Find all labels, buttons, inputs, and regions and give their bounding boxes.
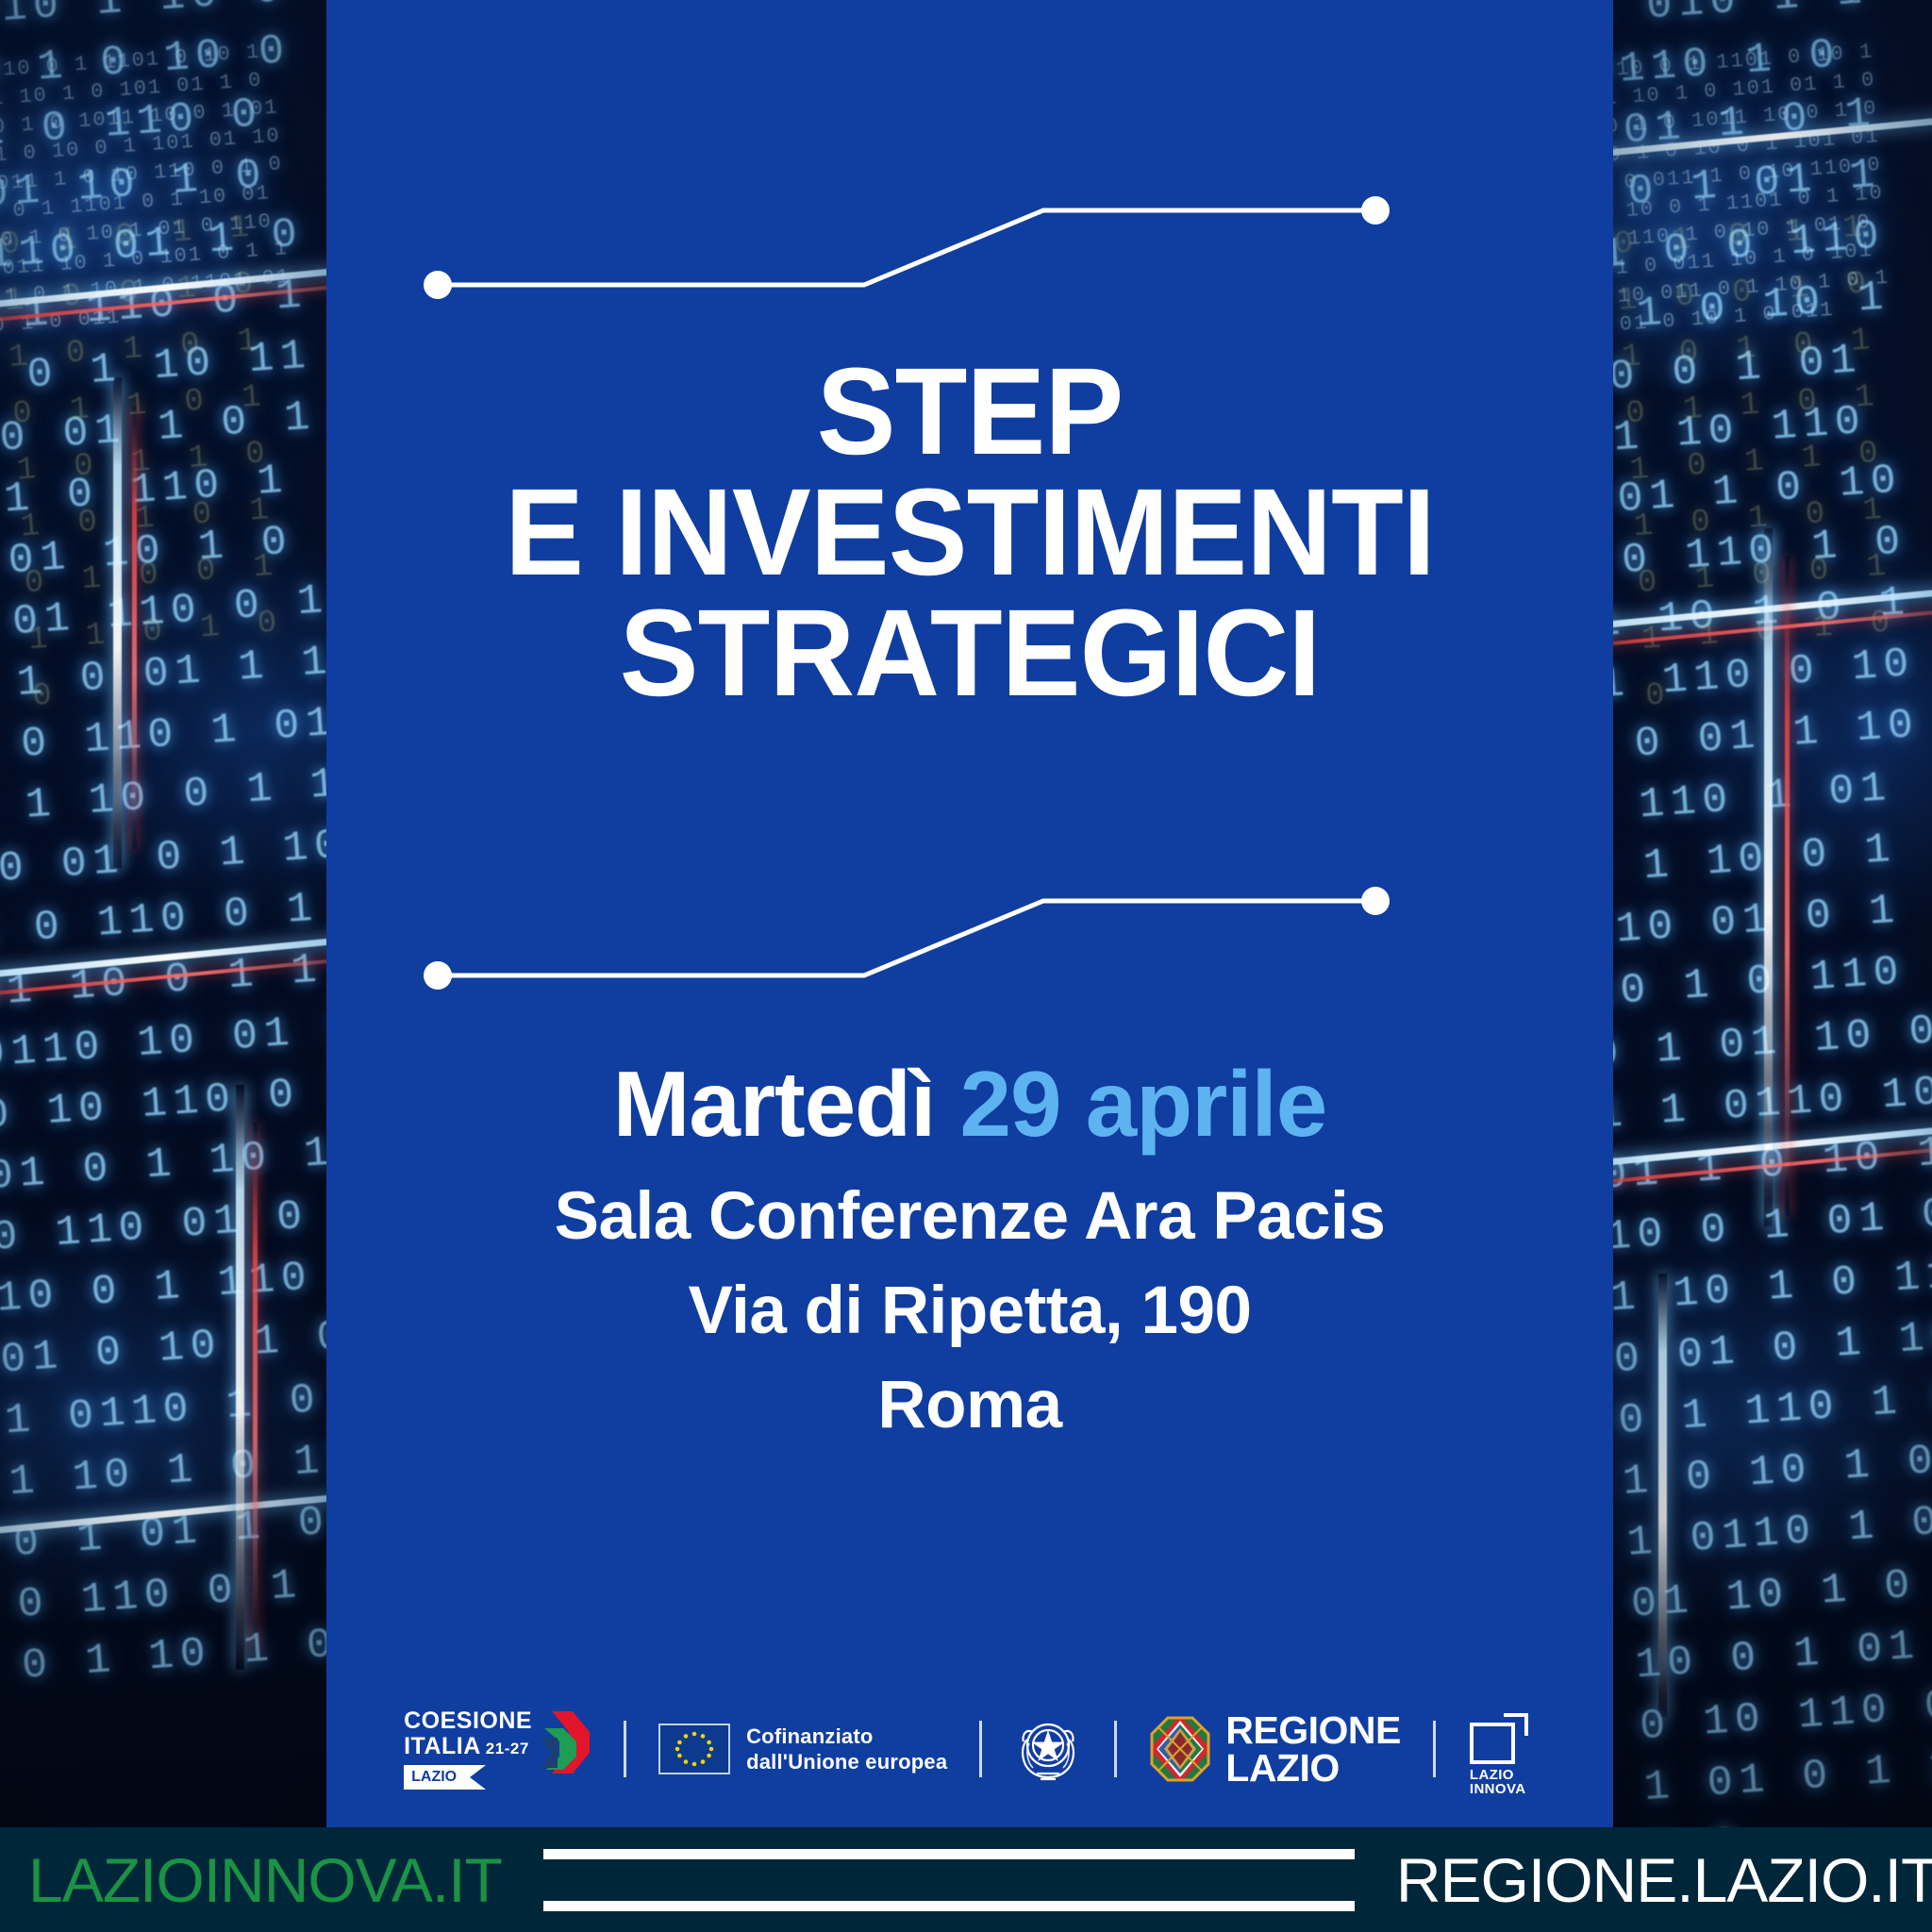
lazio-innova-logo-group: LAZIO INNOVA bbox=[1468, 1713, 1536, 1785]
title-line-2: E INVESTIMENTI bbox=[352, 472, 1587, 592]
poster-title: STEP E INVESTIMENTI STRATEGICI bbox=[352, 351, 1587, 713]
regione-lazio-octagon-icon bbox=[1149, 1715, 1211, 1783]
poster-canvas: 1011 0 1 0110 10 1 0 01 1 010 1 10 0110 … bbox=[0, 0, 1932, 1932]
footer-rule-top bbox=[543, 1849, 1355, 1859]
logo-separator-2 bbox=[979, 1721, 982, 1777]
background-vignette-left bbox=[0, 0, 326, 1827]
partner-logo-strip: COESIONE ITALIA 21-27 LAZIO bbox=[326, 1698, 1613, 1800]
lazio-innova-text-block: LAZIO INNOVA bbox=[1470, 1768, 1526, 1796]
coesione-region-banner: LAZIO bbox=[404, 1765, 486, 1790]
repubblica-italiana-emblem-icon bbox=[1014, 1711, 1082, 1787]
regione-lazio-line-1: REGIONE bbox=[1225, 1711, 1401, 1749]
title-line-1: STEP bbox=[352, 351, 1587, 472]
lazio-innova-line-1: LAZIO bbox=[1470, 1768, 1526, 1782]
coesione-text-block: COESIONE ITALIA 21-27 LAZIO bbox=[404, 1709, 532, 1790]
regione-lazio-line-2: LAZIO bbox=[1225, 1749, 1401, 1787]
regione-lazio-text-block: REGIONE LAZIO bbox=[1225, 1711, 1401, 1787]
event-date: 29 aprile bbox=[960, 1052, 1327, 1156]
footer-rule-group bbox=[543, 1849, 1355, 1911]
logo-separator-1 bbox=[624, 1721, 626, 1777]
event-date-line: Martedì 29 aprile bbox=[326, 1055, 1613, 1153]
footer-lazioinnova-url[interactable]: LAZIOINNOVA.IT bbox=[28, 1844, 502, 1916]
logo-separator-4 bbox=[1433, 1721, 1436, 1777]
background-texture-left: 1011 0 1 0110 10 1 0 01 1 010 1 10 0110 … bbox=[0, 0, 326, 1827]
coesione-years: 21-27 bbox=[486, 1740, 529, 1757]
logo-european-union: Cofinanziato dall'Unione europea bbox=[658, 1724, 947, 1774]
event-info: Martedì 29 aprile Sala Conferenze Ara Pa… bbox=[326, 1055, 1613, 1453]
coesione-italia-word: ITALIA bbox=[404, 1735, 481, 1758]
decorative-connector-bottom bbox=[326, 877, 1613, 991]
footer-rule-bottom bbox=[543, 1901, 1355, 1911]
footer-regionelazio-url[interactable]: REGIONE.LAZIO.IT bbox=[1396, 1844, 1932, 1916]
eu-line-1: Cofinanziato bbox=[746, 1724, 947, 1749]
event-venue: Sala Conferenze Ara Pacis bbox=[326, 1170, 1613, 1264]
event-address: Via di Ripetta, 190 bbox=[326, 1264, 1613, 1358]
coesione-line-1: COESIONE bbox=[404, 1709, 532, 1733]
logo-lazio-innova: LAZIO INNOVA bbox=[1468, 1713, 1536, 1785]
event-weekday: Martedì bbox=[613, 1052, 936, 1156]
background-texture-right: 1011 0 1 0110 10 1 0 01 1 010 1 10 0110 … bbox=[1613, 0, 1932, 1827]
lazio-innova-line-2: INNOVA bbox=[1470, 1782, 1526, 1796]
decorative-connector-top bbox=[326, 187, 1613, 300]
logo-separator-3 bbox=[1114, 1721, 1117, 1777]
coesione-chevron-icon bbox=[535, 1709, 591, 1777]
eu-flag-icon bbox=[658, 1724, 730, 1774]
coesione-region-label: LAZIO bbox=[411, 1770, 457, 1785]
logo-repubblica-italiana bbox=[1014, 1711, 1082, 1787]
logo-regione-lazio: REGIONE LAZIO bbox=[1149, 1711, 1401, 1787]
background-vignette-right bbox=[1613, 0, 1932, 1827]
eu-line-2: dall'Unione europea bbox=[746, 1749, 947, 1774]
main-blue-panel: STEP E INVESTIMENTI STRATEGICI Martedì 2… bbox=[326, 0, 1613, 1827]
event-city: Roma bbox=[326, 1358, 1613, 1453]
coesione-logo-group: COESIONE ITALIA 21-27 LAZIO bbox=[404, 1709, 591, 1790]
coesione-line-2: ITALIA 21-27 bbox=[404, 1735, 532, 1758]
eu-text-block: Cofinanziato dall'Unione europea bbox=[746, 1724, 947, 1774]
title-line-3: STRATEGICI bbox=[352, 592, 1587, 713]
lazio-innova-corner-icon bbox=[1504, 1713, 1528, 1736]
logo-coesione-italia: COESIONE ITALIA 21-27 LAZIO bbox=[404, 1709, 591, 1790]
footer-bar: LAZIOINNOVA.IT REGIONE.LAZIO.IT bbox=[0, 1827, 1932, 1932]
